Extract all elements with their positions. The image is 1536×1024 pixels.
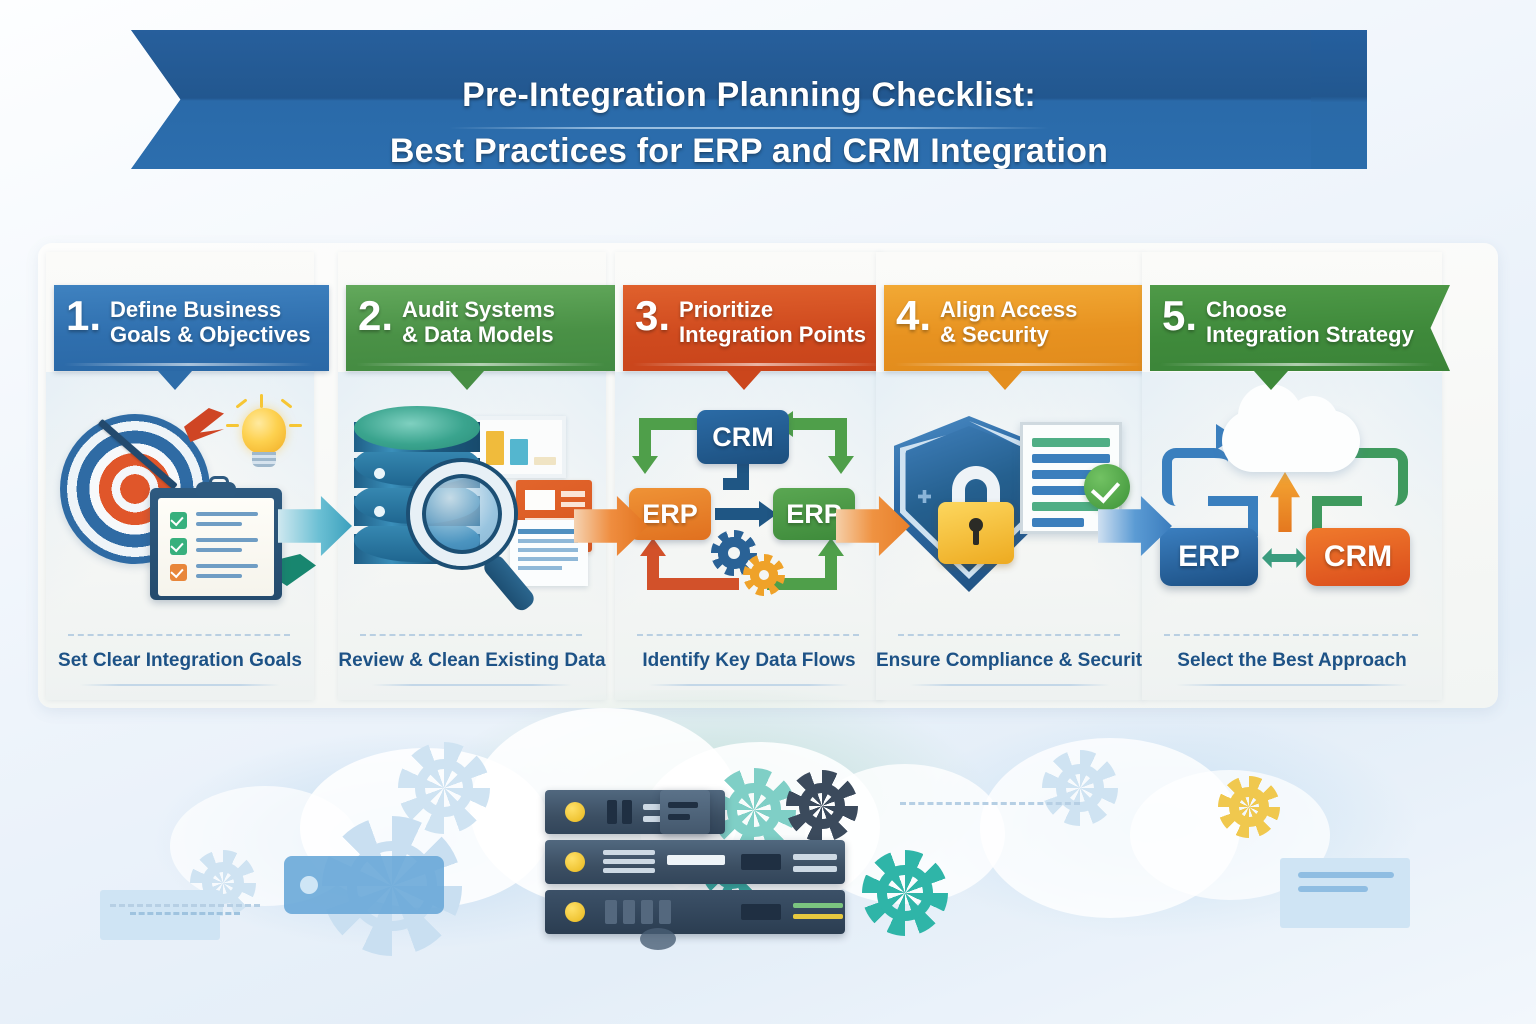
decorative-line xyxy=(1298,886,1368,892)
step-card-1[interactable]: 1. Define Business Goals & Objectives Se… xyxy=(46,252,314,700)
step-1-title: Define Business Goals & Objectives xyxy=(110,296,311,348)
doc-line xyxy=(518,548,578,552)
page-title-line-2: Best Practices for ERP and CRM Integrati… xyxy=(131,132,1367,171)
chart-bar xyxy=(486,431,504,465)
step-1-header-notch xyxy=(158,371,192,390)
doc-thumb xyxy=(525,490,555,510)
chart-bar xyxy=(510,439,528,465)
flow-arrowhead xyxy=(640,538,666,556)
server-unit-icon xyxy=(545,890,845,934)
checkbox-checked-icon xyxy=(170,538,187,555)
database-top-disc xyxy=(354,406,480,450)
step-4-header: 4. Align Access & Security xyxy=(884,285,1159,371)
step-2-caption-divider xyxy=(360,634,582,636)
server-bar xyxy=(603,850,655,855)
step-4-title: Align Access & Security xyxy=(940,296,1077,348)
step-4-number: 4. xyxy=(896,296,931,336)
step-1-illustration xyxy=(46,402,314,627)
step-3-number: 3. xyxy=(635,296,670,336)
bidirectional-arrow-icon xyxy=(1262,548,1306,568)
checkbox-checked-icon xyxy=(170,564,187,581)
doc-line xyxy=(518,557,578,561)
step-2-header-notch xyxy=(450,371,484,390)
server-slot xyxy=(622,800,632,824)
step-2-caption-underline xyxy=(372,684,572,686)
step-2-title: Audit Systems & Data Models xyxy=(402,296,555,348)
step-1-caption: Set Clear Integration Goals xyxy=(46,650,314,672)
step-5-caption: Select the Best Approach xyxy=(1142,650,1442,672)
footer-illustration xyxy=(0,690,1536,1024)
gear-icon xyxy=(786,770,858,842)
step-3-header-notch xyxy=(727,371,761,390)
decorative-line xyxy=(1298,872,1394,878)
step-2-illustration xyxy=(338,402,606,627)
server-unit-icon xyxy=(545,840,845,884)
dashed-connector xyxy=(110,904,260,907)
server-bar xyxy=(668,814,690,820)
flow-line xyxy=(715,508,761,520)
doc-line xyxy=(518,566,562,570)
server-led xyxy=(565,902,585,922)
step-3-title: Prioritize Integration Points xyxy=(679,296,866,348)
step-3-header: 3. Prioritize Integration Points xyxy=(623,285,898,371)
crm-node: CRM xyxy=(1306,528,1410,586)
server-foot xyxy=(640,928,676,950)
step-3-caption: Identify Key Data Flows xyxy=(615,650,883,672)
flow-line xyxy=(639,418,651,458)
cloud-icon xyxy=(1222,410,1360,472)
server-bar xyxy=(793,866,837,872)
step-5-header-notch xyxy=(1254,371,1288,390)
step-3-caption-divider xyxy=(637,634,859,636)
checklist-line xyxy=(196,574,242,578)
server-slot xyxy=(741,904,781,920)
database-led xyxy=(374,506,385,517)
flow-line xyxy=(825,554,837,580)
dashed-connector xyxy=(130,912,240,915)
clipboard-clamp-icon xyxy=(196,482,236,496)
checklist-line xyxy=(196,538,258,542)
gear-icon xyxy=(743,554,785,596)
lightbulb-base-icon xyxy=(252,452,276,467)
gear-icon xyxy=(862,850,948,936)
step-5-caption-underline xyxy=(1176,684,1408,686)
step-5-illustration: ERP CRM xyxy=(1142,402,1442,627)
step-4-header-notch xyxy=(988,371,1022,390)
step-4-caption: Ensure Compliance & Security xyxy=(876,650,1144,672)
checklist-line xyxy=(196,548,242,552)
doc-line xyxy=(561,502,585,507)
database-led xyxy=(374,468,385,479)
page-title-line-1: Pre-Integration Planning Checklist: xyxy=(131,76,1367,115)
flow-line xyxy=(723,478,745,490)
server-bar xyxy=(793,854,837,860)
flow-arrowhead xyxy=(632,456,658,474)
server-bar xyxy=(793,914,843,919)
doc-line xyxy=(518,539,578,543)
lightbulb-icon xyxy=(242,408,286,454)
server-slot xyxy=(741,854,781,870)
step-card-2[interactable]: 2. Audit Systems & Data Models Review & … xyxy=(338,252,606,700)
decorative-bar xyxy=(1280,858,1410,928)
server-slot xyxy=(607,800,617,824)
server-bar xyxy=(668,802,698,808)
step-2-number: 2. xyxy=(358,296,393,336)
doc-line xyxy=(518,529,578,534)
flow-line xyxy=(647,578,739,590)
step-card-3[interactable]: CRM ERP ERP 3. Prioritize Integration Po… xyxy=(615,252,883,700)
doc-line xyxy=(1032,438,1110,447)
gear-icon xyxy=(1042,750,1118,826)
up-arrow-icon xyxy=(1270,472,1300,532)
server-bar xyxy=(793,903,843,908)
server-slot xyxy=(641,900,653,924)
flow-line xyxy=(647,554,659,580)
flow-line xyxy=(835,418,847,458)
dart-fletching-icon xyxy=(184,408,224,442)
dashed-connector xyxy=(900,802,1080,805)
server-slot xyxy=(623,900,635,924)
checklist-line xyxy=(196,512,258,516)
doc-line xyxy=(561,491,585,497)
crm-node: CRM xyxy=(697,410,789,464)
step-3-caption-underline xyxy=(649,684,849,686)
step-4-caption-underline xyxy=(910,684,1110,686)
keyhole-icon xyxy=(969,518,983,532)
server-bar xyxy=(603,859,655,864)
bulb-ray-icon xyxy=(289,424,302,427)
step-2-header: 2. Audit Systems & Data Models xyxy=(346,285,621,371)
step-card-5[interactable]: ERP CRM 5. Choose Integration Strategy S… xyxy=(1142,252,1442,700)
step-5-number: 5. xyxy=(1162,296,1197,336)
step-4-caption-divider xyxy=(898,634,1120,636)
server-led xyxy=(565,852,585,872)
step-card-4[interactable]: 4. Align Access & Security Ensure Compli… xyxy=(876,252,1144,700)
step-1-number: 1. xyxy=(66,296,101,336)
server-side-panel xyxy=(660,790,710,834)
checkbox-checked-icon xyxy=(170,512,187,529)
step-5-title: Choose Integration Strategy xyxy=(1206,296,1414,348)
step-1-caption-divider xyxy=(68,634,290,636)
decorative-bar xyxy=(100,890,220,940)
step-5-caption-divider xyxy=(1164,634,1418,636)
decorative-dot xyxy=(300,876,318,894)
step-2-caption: Review & Clean Existing Data xyxy=(338,650,606,672)
flow-arrowhead xyxy=(828,456,854,474)
bulb-ray-icon xyxy=(260,394,263,408)
step-5-header: 5. Choose Integration Strategy xyxy=(1150,285,1450,371)
title-banner: Pre-Integration Planning Checklist: Best… xyxy=(131,30,1367,169)
gear-icon xyxy=(1218,776,1280,838)
bulb-ray-icon xyxy=(226,424,239,427)
server-bar xyxy=(603,868,655,873)
green-check-badge-icon xyxy=(1084,464,1130,510)
title-divider xyxy=(449,127,1049,129)
erp-node: ERP xyxy=(1160,528,1258,586)
step-1-caption-underline xyxy=(80,684,280,686)
server-bar xyxy=(667,855,725,865)
magnifying-glass-icon xyxy=(410,462,514,566)
checklist-line xyxy=(196,522,242,526)
chart-bar xyxy=(534,457,556,465)
server-led xyxy=(565,802,585,822)
server-slot xyxy=(659,900,671,924)
doc-line xyxy=(1032,518,1084,527)
step-1-header: 1. Define Business Goals & Objectives xyxy=(54,285,329,371)
checklist-line xyxy=(196,564,258,568)
doc-line xyxy=(1032,454,1110,463)
server-slot xyxy=(605,900,617,924)
